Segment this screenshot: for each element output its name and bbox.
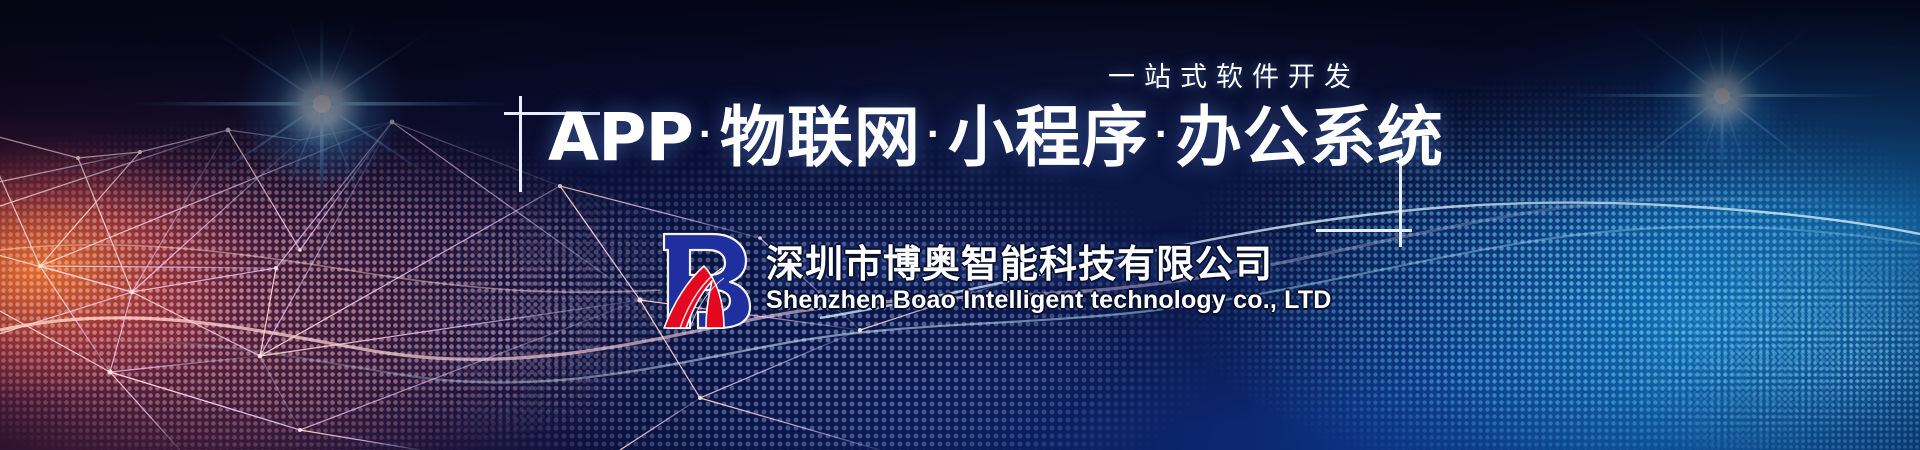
company-name-cn: 深圳市博奥智能科技有限公司 <box>766 246 1332 286</box>
headline-segment-iot: 物联网 <box>720 100 921 174</box>
boao-logo-icon <box>646 228 756 332</box>
headline: APP·物联网·小程序·办公系统 <box>548 104 1444 171</box>
company-logo-lockup: 深圳市博奥智能科技有限公司 Shenzhen Boao Intelligent … <box>646 228 1332 332</box>
promo-banner: 一站式软件开发 APP·物联网·小程序·办公系统 深圳市博奥智能科技有限公司 S… <box>0 0 1920 450</box>
headline-separator: · <box>693 110 720 157</box>
headline-separator: · <box>921 110 948 157</box>
bracket-top-left-vertical <box>519 96 522 192</box>
headline-segment-miniprogram: 小程序 <box>948 100 1149 174</box>
headline-segment-office-system: 办公系统 <box>1176 100 1444 174</box>
company-name-en: Shenzhen Boao Intelligent technology co.… <box>766 287 1332 315</box>
company-name-block: 深圳市博奥智能科技有限公司 Shenzhen Boao Intelligent … <box>766 246 1332 314</box>
headline-separator: · <box>1149 110 1176 157</box>
banner-content: 一站式软件开发 APP·物联网·小程序·办公系统 深圳市博奥智能科技有限公司 S… <box>0 0 1920 450</box>
tagline: 一站式软件开发 <box>1108 55 1360 94</box>
headline-segment-app: APP <box>548 99 693 176</box>
